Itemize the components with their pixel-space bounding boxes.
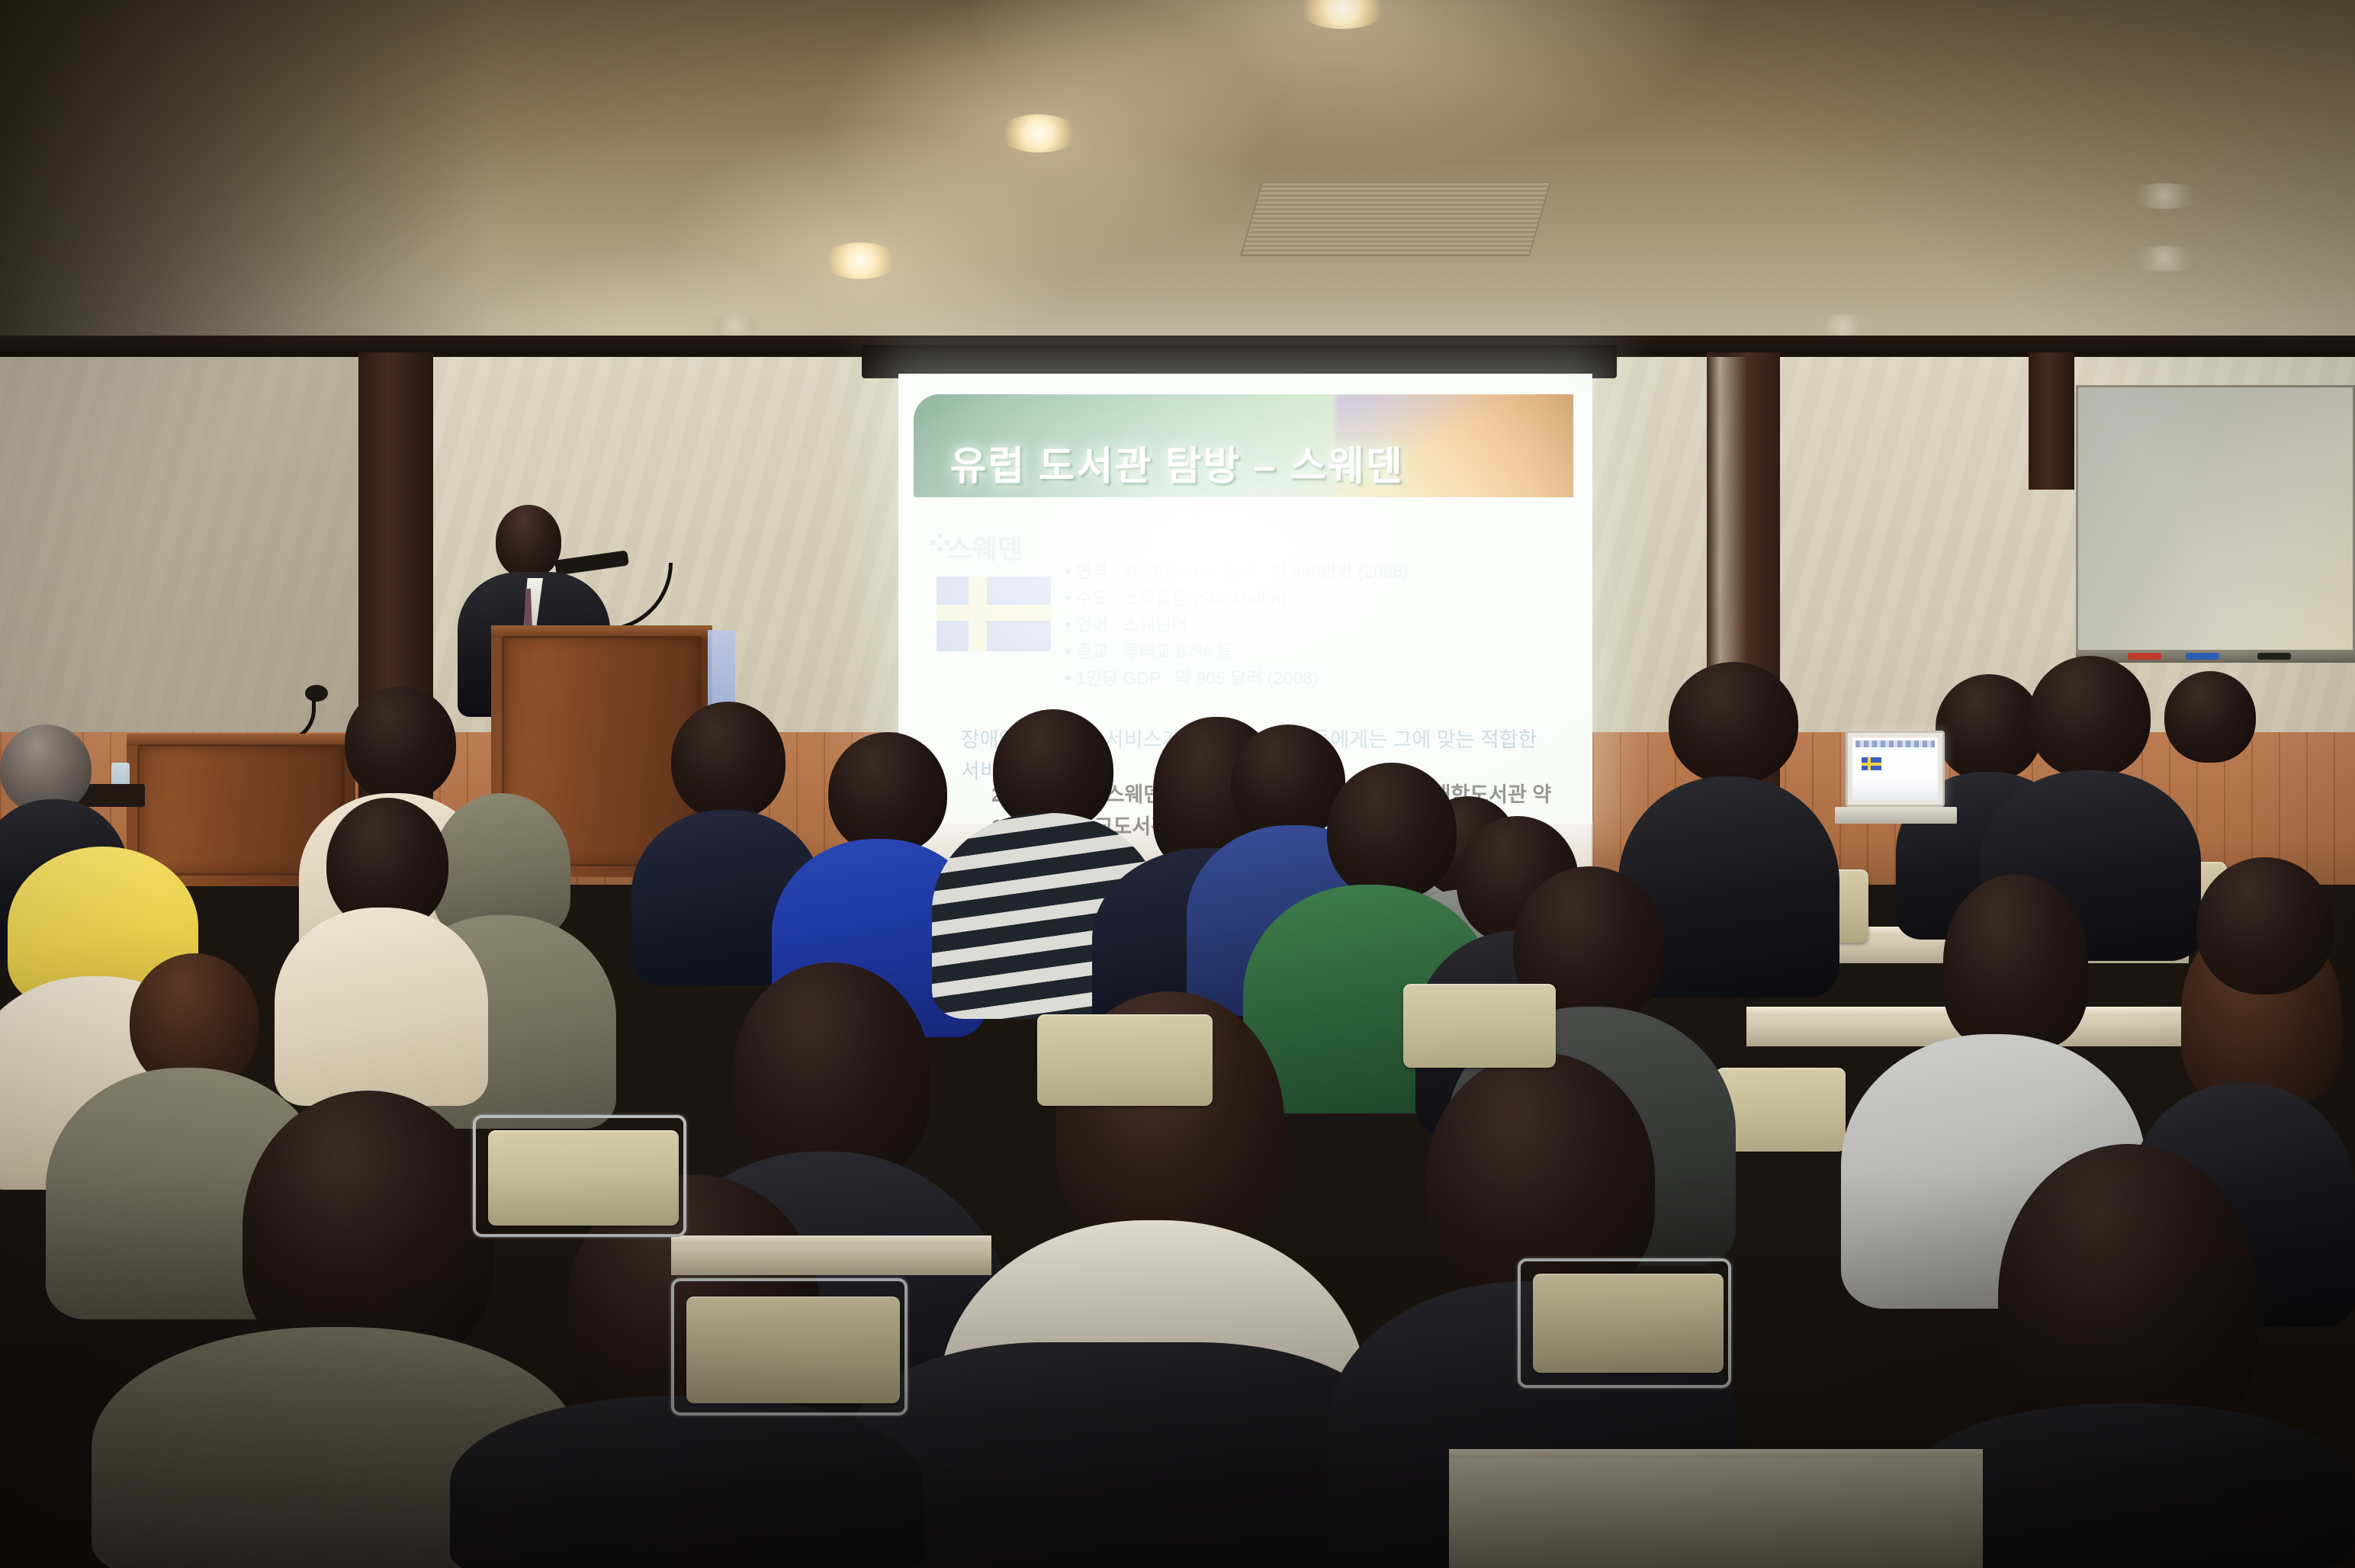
whiteboard xyxy=(2076,385,2355,652)
chair-mid-2[interactable] xyxy=(1037,1014,1213,1106)
slide-title-banner: 유럽 도서관 탐방 – 스웨덴 xyxy=(914,394,1573,498)
person-head-front-3 xyxy=(243,1091,494,1365)
ceiling-light-on-3 xyxy=(822,243,898,279)
slide-fact: 1인당 GDP : 약 905 달러 (2008) xyxy=(1065,665,1564,692)
person-head-back-11 xyxy=(2164,671,2256,763)
ceiling-light-off-1 xyxy=(2128,183,2201,209)
slide-fact: 언어 : 스웨덴어 xyxy=(1065,612,1564,638)
black-marker xyxy=(2257,653,2291,660)
person-head-back-10 xyxy=(2029,656,2151,778)
person-head-mid-5 xyxy=(1943,874,2088,1049)
person-head-front-1 xyxy=(732,962,930,1184)
audience-laptop[interactable] xyxy=(1846,731,1945,807)
laptop-browser-toolbar xyxy=(1855,741,1935,747)
table-front-left xyxy=(671,1235,991,1275)
person-head-back-3 xyxy=(828,732,947,854)
laptop-swedish-flag-icon xyxy=(1862,757,1881,770)
slide-title: 유럽 도서관 탐방 – 스웨덴 xyxy=(950,434,1404,491)
table-front-right xyxy=(1449,1449,1983,1568)
laptop-keyboard-base xyxy=(1835,807,1957,824)
ceiling-shadow-left xyxy=(0,0,488,358)
lecture-hall-photo: 유럽 도서관 탐방 – 스웨덴 스웨덴 면적 : 약 45만 km², 인구 :… xyxy=(0,0,2355,1568)
laptop-screen xyxy=(1852,737,1938,800)
chair-front-1[interactable] xyxy=(686,1296,900,1403)
wall-corner-right xyxy=(2029,352,2074,490)
person-head-back-2 xyxy=(671,702,786,820)
ceiling-light-off-4 xyxy=(702,314,769,337)
person-head-back-1 xyxy=(345,686,456,801)
person-body-front-2-coat xyxy=(854,1342,1388,1568)
swedish-flag-icon xyxy=(937,577,1051,651)
person-head-mid-2 xyxy=(1327,763,1457,900)
chair-front-2[interactable] xyxy=(1533,1274,1724,1373)
slide-fact: 면적 : 약 45만 km², 인구 : 약 940만명 (2008) xyxy=(1065,558,1564,585)
chair-mid-1[interactable] xyxy=(488,1130,679,1226)
ceiling-light-off-2 xyxy=(2128,246,2201,272)
presenter-head xyxy=(496,505,561,578)
slide-fact: 수도 : 스톡홀름 (Stockholm) xyxy=(1065,585,1564,612)
table-microphone-head xyxy=(305,685,328,702)
person-body-front-4 xyxy=(450,1396,923,1568)
person-head-back-9 xyxy=(1936,674,2042,781)
chair-mid-3[interactable] xyxy=(1403,984,1556,1068)
person-body-mid-1 xyxy=(275,908,488,1106)
slide-fact: 종교 : 루터교 87% 등 xyxy=(1065,638,1564,665)
slide-section-heading: 스웨덴 xyxy=(947,527,1023,567)
blue-marker xyxy=(2186,653,2219,660)
slide-fact-list: 면적 : 약 45만 km², 인구 : 약 940만명 (2008) 수도 :… xyxy=(1065,558,1564,692)
ceiling-light-on-2 xyxy=(999,114,1078,153)
person-head-mid-7 xyxy=(2196,857,2334,994)
red-marker xyxy=(2128,653,2161,660)
ceiling-air-vent xyxy=(1240,182,1551,256)
person-head-back-8 xyxy=(1669,662,1798,784)
